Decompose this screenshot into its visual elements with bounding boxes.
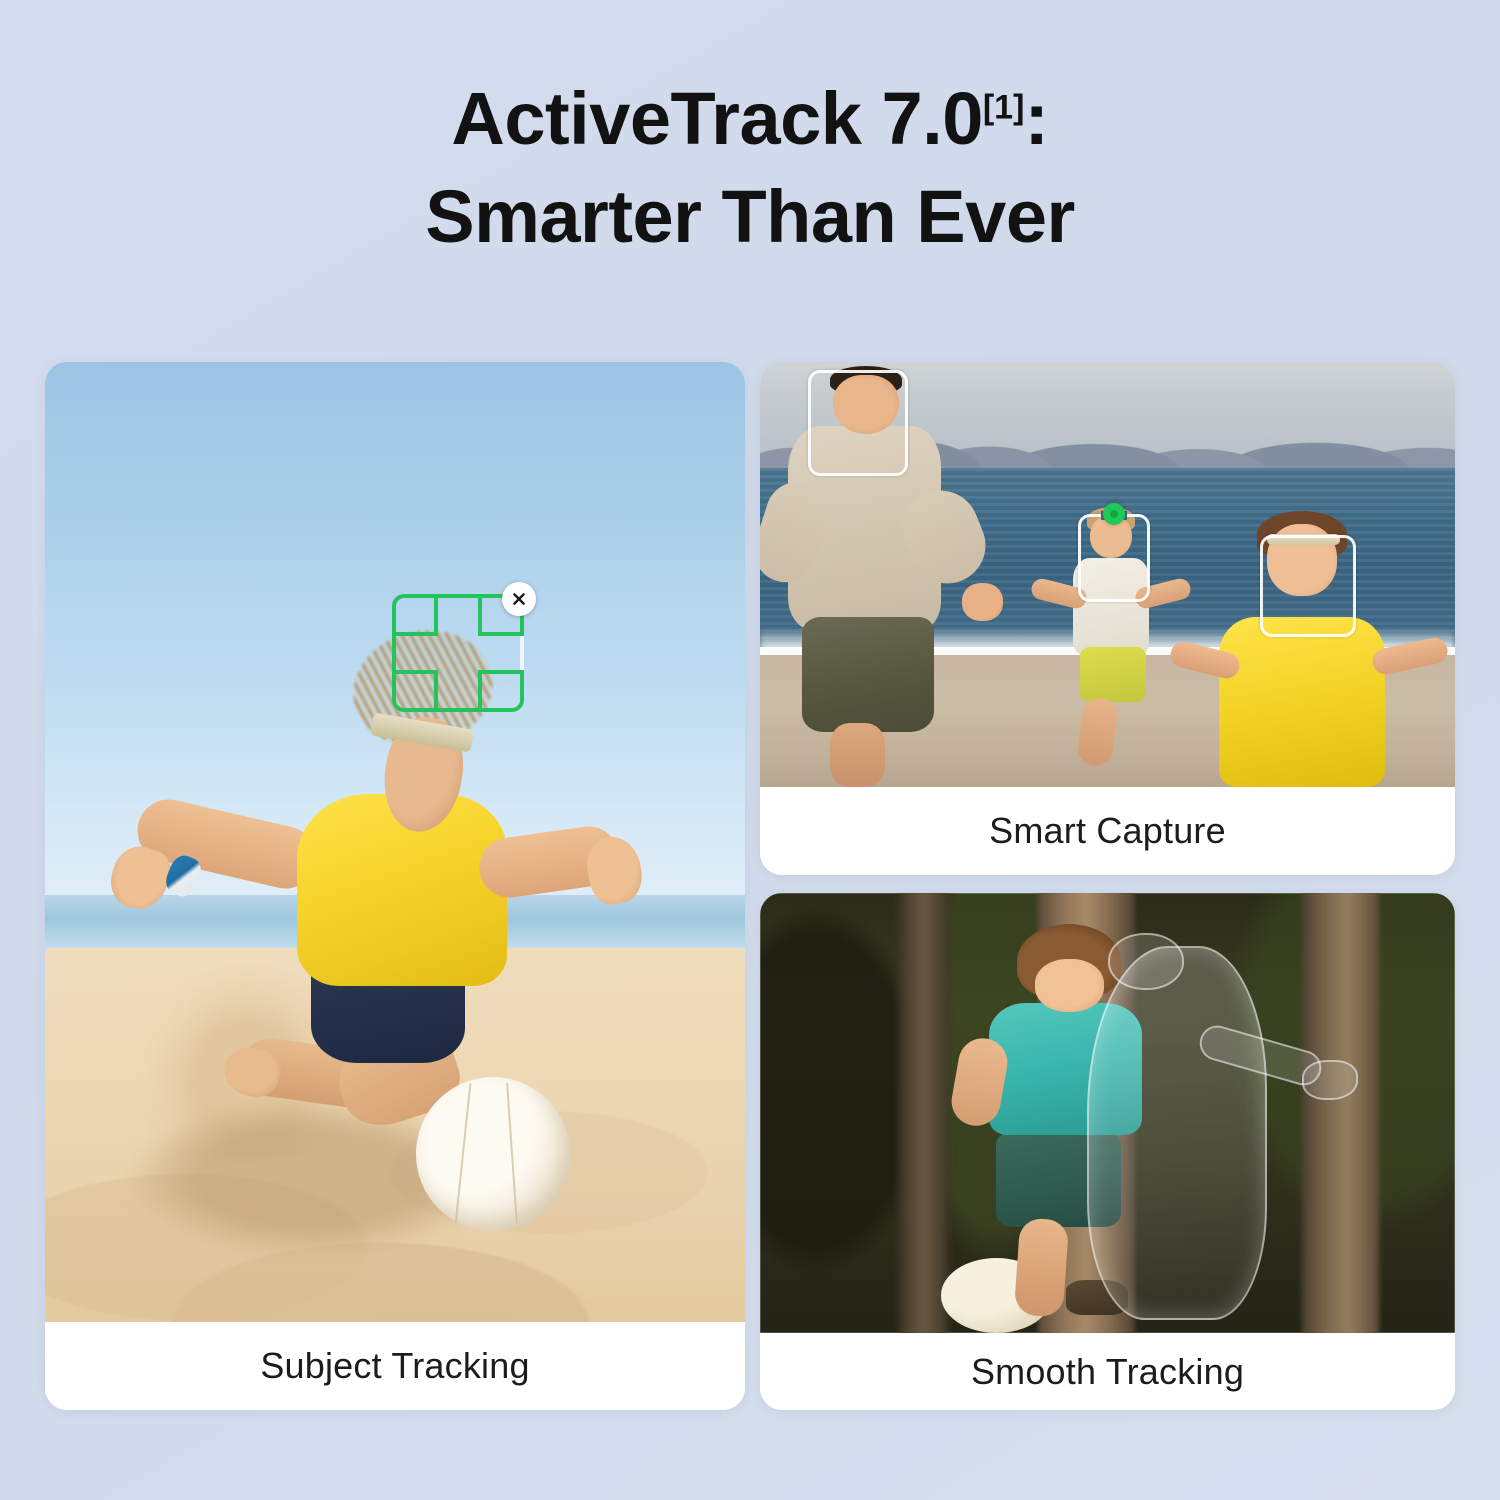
face-detect-box-man[interactable] xyxy=(808,370,908,476)
bracket-corner-bottom-right xyxy=(478,670,524,712)
motion-ghost-silhouette xyxy=(1087,946,1268,1320)
page-title-line1-suffix: : xyxy=(1024,77,1048,160)
volleyball xyxy=(416,1077,570,1231)
panel-subject-tracking[interactable]: Subject Tracking xyxy=(45,362,745,1410)
boy-face xyxy=(1035,959,1105,1012)
boy-leg xyxy=(1014,1217,1069,1317)
man-leg xyxy=(830,723,886,787)
bracket-edge-bottom xyxy=(438,708,478,712)
bracket-edge-right xyxy=(520,636,524,670)
page-title: ActiveTrack 7.0[1]: Smarter Than Ever xyxy=(0,70,1500,265)
boy-shirt xyxy=(1219,617,1386,787)
active-subject-indicator-icon xyxy=(1103,503,1125,525)
bracket-edge-left xyxy=(392,636,396,670)
tracking-bracket[interactable] xyxy=(392,594,524,712)
panel-smart-capture[interactable]: Smart Capture xyxy=(760,362,1455,875)
face-detect-box-girl[interactable] xyxy=(1078,514,1150,602)
close-icon xyxy=(511,591,527,607)
subject-tracking-caption: Subject Tracking xyxy=(45,1322,745,1410)
subject-tracking-photo xyxy=(45,362,745,1322)
tree-trunk-right xyxy=(1302,893,1378,1333)
page-background: ActiveTrack 7.0[1]: Smarter Than Ever xyxy=(0,0,1500,1500)
page-title-line2: Smarter Than Ever xyxy=(0,168,1500,266)
smart-capture-caption: Smart Capture xyxy=(760,787,1455,875)
motion-ghost-hand xyxy=(1302,1060,1358,1100)
panel-smooth-tracking[interactable]: Smooth Tracking xyxy=(760,893,1455,1410)
motion-ghost-head xyxy=(1108,933,1184,990)
face-detect-box-boy[interactable] xyxy=(1260,535,1356,637)
smooth-tracking-photo xyxy=(760,893,1455,1333)
tracking-close-button[interactable] xyxy=(502,582,536,616)
page-title-footnote-marker: [1] xyxy=(983,88,1025,126)
smart-capture-photo xyxy=(760,362,1455,787)
bracket-edge-top xyxy=(438,594,478,598)
girl-shorts xyxy=(1080,647,1146,702)
man-shorts xyxy=(802,617,934,732)
smooth-tracking-caption: Smooth Tracking xyxy=(760,1333,1455,1410)
bracket-corner-top-left xyxy=(392,594,438,636)
bracket-corner-bottom-left xyxy=(392,670,438,712)
page-title-line1-main: ActiveTrack 7.0 xyxy=(451,77,982,160)
man-right-hand xyxy=(962,583,1004,621)
tree-trunk-far xyxy=(899,893,948,1333)
